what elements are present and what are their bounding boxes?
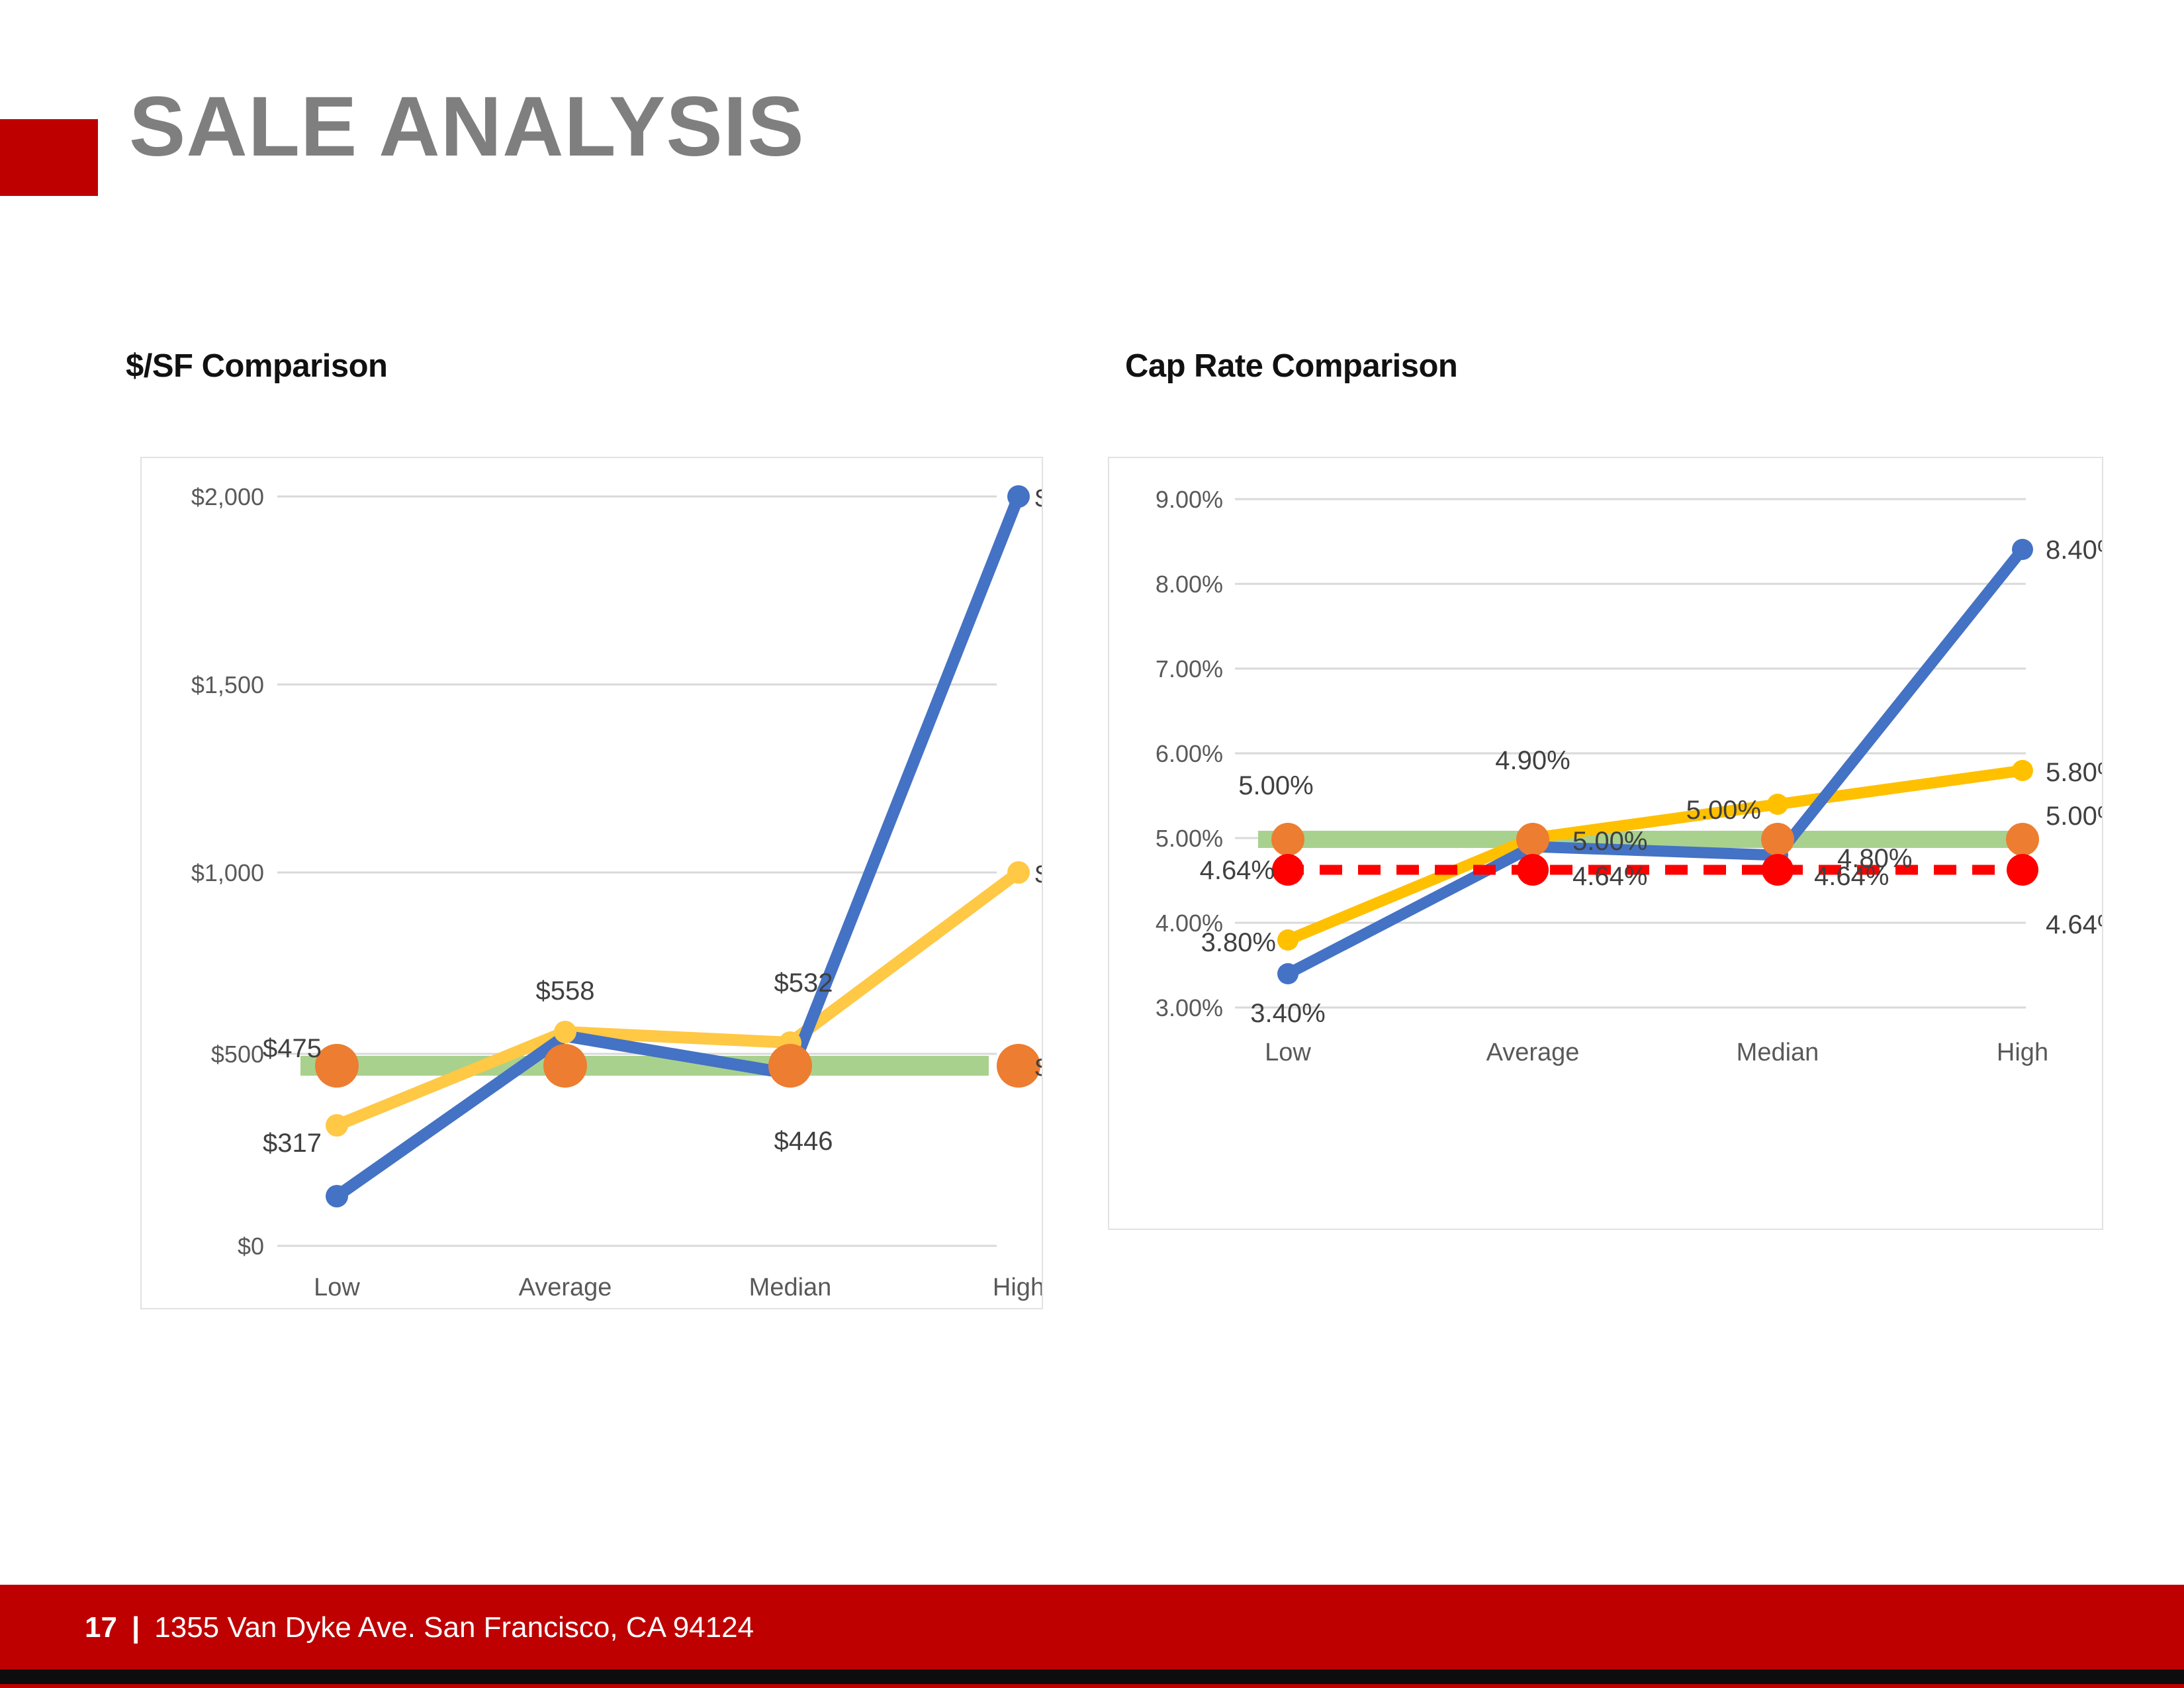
footer-page-number: 17 xyxy=(85,1611,117,1644)
gridlines xyxy=(1235,499,2026,1008)
y-axis-ticks: $2,000 $1,500 $1,000 $500 $0 xyxy=(191,483,264,1260)
data-label-avg-median: 5.00% xyxy=(1686,796,1761,825)
data-label-subject-high: $475 xyxy=(1035,1053,1042,1082)
footer-address: 1355 Van Dyke Ave. San Francisco, CA 941… xyxy=(154,1611,754,1644)
data-label-avg-high: $1,000 xyxy=(1035,860,1042,889)
x-axis-ticks: Low Average Median High xyxy=(314,1274,1042,1301)
x-axis-ticks: Low Average Median High xyxy=(1265,1039,2048,1066)
data-label-market-high: 4.64% xyxy=(2046,910,2102,939)
data-label-market-low: 4.64% xyxy=(1200,856,1275,885)
x-tick-high: High xyxy=(993,1274,1042,1301)
x-tick-low: Low xyxy=(1265,1039,1311,1066)
data-label-avg-median: $532 xyxy=(774,968,833,998)
y-tick-3: 3.00% xyxy=(1156,994,1223,1021)
series-market-cap-rate-markers xyxy=(1272,854,2038,886)
y-tick-0: $0 xyxy=(238,1233,264,1260)
footer-separator: | xyxy=(132,1611,140,1644)
data-label-subject-high: 5.00% xyxy=(2046,802,2102,831)
series-comp-average-line xyxy=(337,872,1019,1125)
data-label-range-high: $2,000 xyxy=(1035,484,1042,513)
page-title: SALE ANALYSIS xyxy=(129,85,805,169)
data-label-avg-average: $558 xyxy=(536,976,595,1006)
data-label-range-median: $446 xyxy=(774,1127,833,1156)
y-tick-1500: $1,500 xyxy=(191,671,264,698)
x-tick-high: High xyxy=(1997,1039,2048,1066)
footer-text: 17 | 1355 Van Dyke Ave. San Francisco, C… xyxy=(85,1611,754,1644)
chart-cap-rate: 9.00% 8.00% 7.00% 6.00% 5.00% 4.00% 3.00… xyxy=(1108,457,2103,1230)
chart-cap-rate-svg: 9.00% 8.00% 7.00% 6.00% 5.00% 4.00% 3.00… xyxy=(1109,458,2102,1229)
x-tick-average: Average xyxy=(519,1274,612,1301)
y-tick-1000: $1,000 xyxy=(191,859,264,886)
chart-title-cap-rate: Cap Rate Comparison xyxy=(1125,348,1457,385)
data-label-market-median: 4.64% xyxy=(1814,862,1889,891)
y-tick-5: 5.00% xyxy=(1156,825,1223,852)
x-tick-average: Average xyxy=(1486,1039,1580,1066)
footer-bottom-red-strip xyxy=(0,1684,2184,1688)
series-comp-range-line xyxy=(337,496,1019,1196)
series-comp-range-line xyxy=(1288,549,2023,974)
data-label-avg-average: 5.00% xyxy=(1572,827,1647,856)
data-label-market-average: 4.64% xyxy=(1572,862,1647,891)
gridlines xyxy=(277,496,997,1246)
series-comp-range-markers xyxy=(326,485,1030,1207)
chart-dollar-per-sf-svg: $2,000 $1,500 $1,000 $500 $0 xyxy=(142,458,1042,1308)
y-tick-500: $500 xyxy=(211,1041,264,1068)
chart-dollar-per-sf: $2,000 $1,500 $1,000 $500 $0 xyxy=(140,457,1043,1309)
data-label-range-average: 4.90% xyxy=(1495,746,1570,775)
data-label-range-high: 8.40% xyxy=(2046,536,2102,565)
data-label-range-low: 3.40% xyxy=(1250,999,1325,1028)
data-label-avg-low: 3.80% xyxy=(1201,928,1276,957)
data-label-subject-low: 5.00% xyxy=(1238,771,1313,800)
y-tick-8: 8.00% xyxy=(1156,571,1223,598)
y-tick-2000: $2,000 xyxy=(191,483,264,510)
footer-black-strip xyxy=(0,1669,2184,1684)
y-tick-7: 7.00% xyxy=(1156,655,1223,682)
data-label-subject-low: $475 xyxy=(263,1034,322,1063)
chart-title-dollar-per-sf: $/SF Comparison xyxy=(126,348,387,385)
data-label-avg-high: 5.80% xyxy=(2046,758,2102,787)
x-tick-median: Median xyxy=(1737,1039,1819,1066)
x-tick-low: Low xyxy=(314,1274,360,1301)
series-comp-average-markers xyxy=(326,861,1030,1137)
data-label-avg-low: $317 xyxy=(263,1129,322,1158)
x-tick-median: Median xyxy=(749,1274,832,1301)
y-tick-6: 6.00% xyxy=(1156,740,1223,767)
title-accent-block xyxy=(0,119,98,196)
y-tick-9: 9.00% xyxy=(1156,486,1223,513)
